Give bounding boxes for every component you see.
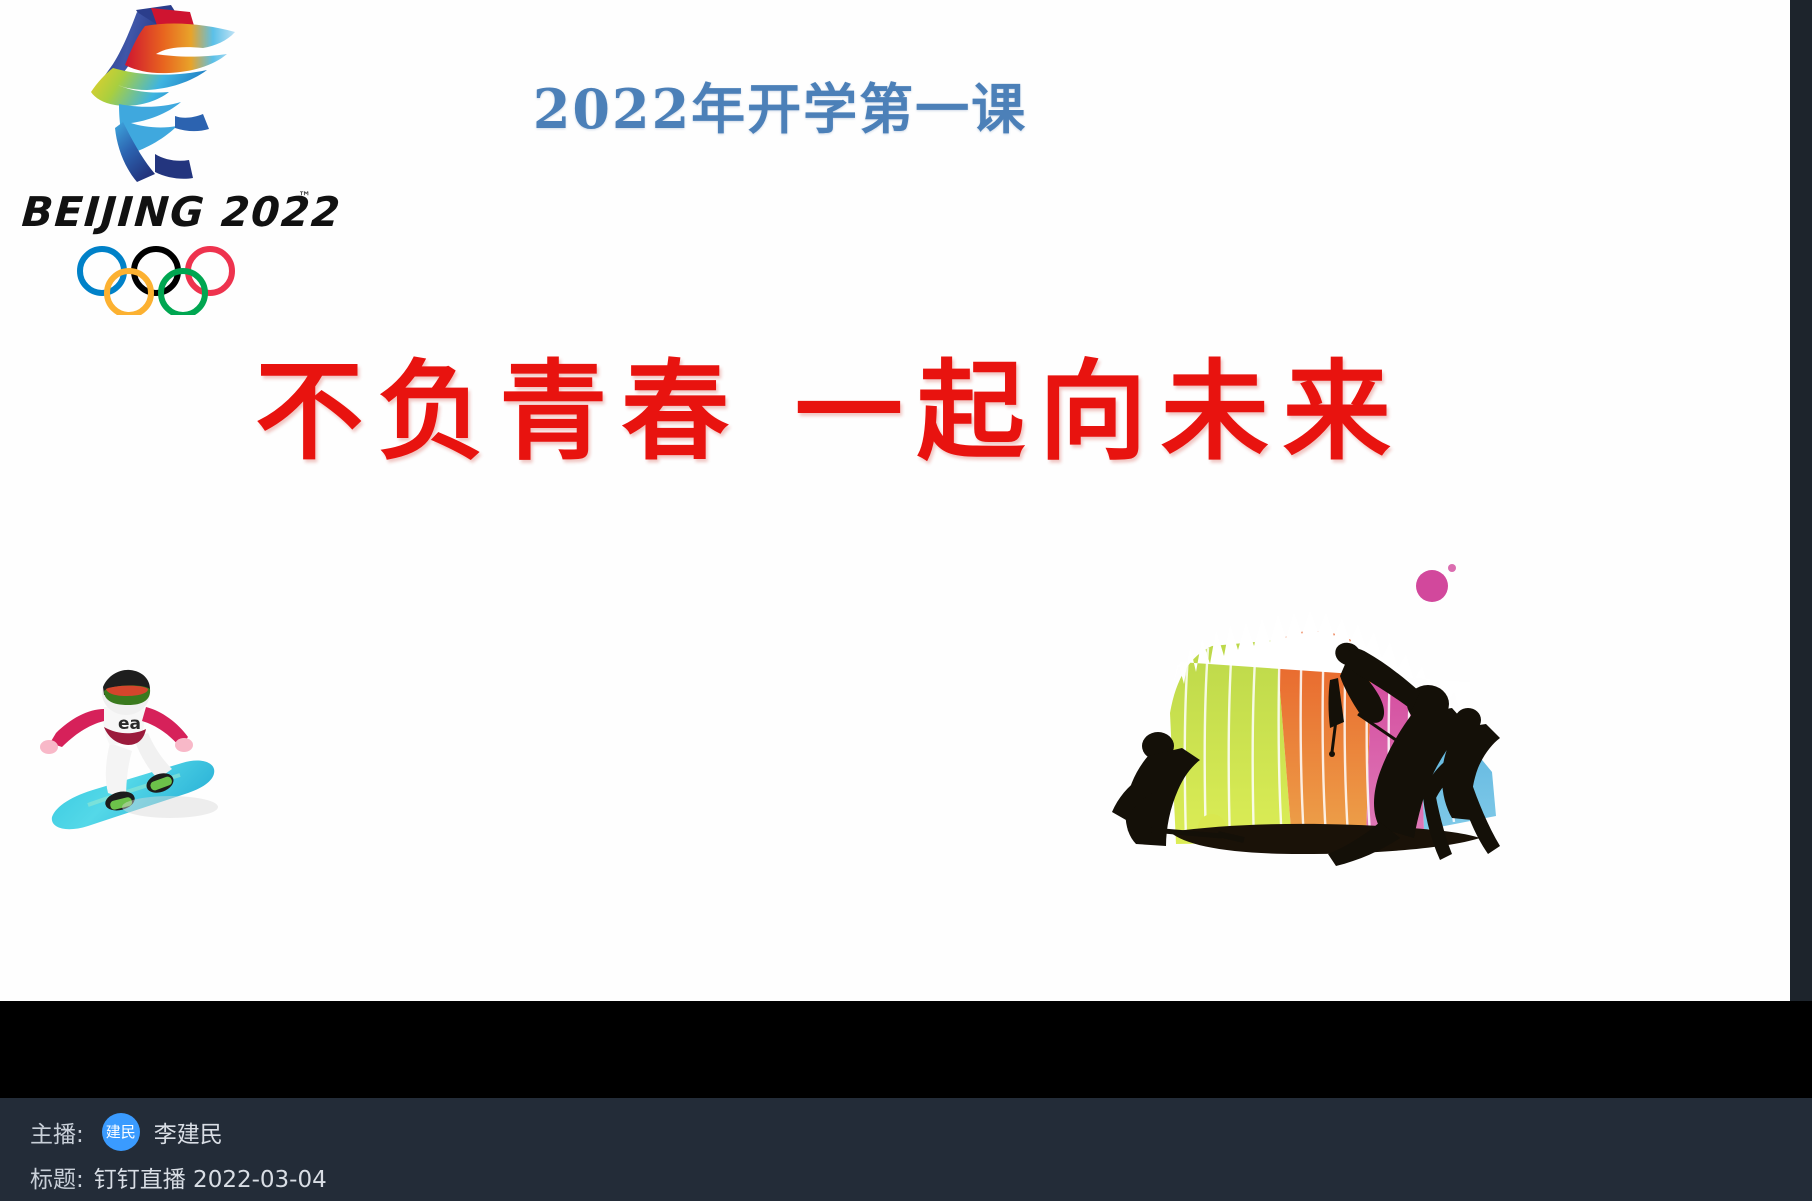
host-row: 主播: 建民 李建民	[30, 1113, 223, 1151]
beijing-2022-wordmark: BEIJING 2022	[20, 188, 323, 234]
trademark-symbol: ™	[298, 190, 311, 205]
stream-info-footer: 主播: 建民 李建民 标题: 钉钉直播 2022-03-04	[0, 1098, 1812, 1201]
live-stream-player: BEIJING 2022 ™ 2022年开学第一课 不负青春 一起向未来	[0, 0, 1812, 1201]
winter-sports-brush-artwork	[1000, 528, 1580, 868]
snowboarder-photo: ea	[30, 665, 250, 845]
svg-text:ea: ea	[118, 714, 141, 734]
stream-title-value: 钉钉直播 2022-03-04	[94, 1160, 327, 1194]
presentation-slide: BEIJING 2022 ™ 2022年开学第一课 不负青春 一起向未来	[0, 0, 1790, 1001]
beijing-2022-logo-lockup: BEIJING 2022 ™	[8, 2, 328, 332]
letterbox-strip	[0, 1001, 1812, 1098]
host-label: 主播:	[30, 1115, 84, 1149]
host-name: 李建民	[154, 1115, 223, 1149]
slide-headline: 2022年开学第一课	[0, 65, 1560, 144]
host-avatar[interactable]: 建民	[102, 1113, 140, 1151]
slide-slogan: 不负青春 一起向未来	[0, 325, 1660, 481]
stream-title-row: 标题: 钉钉直播 2022-03-04	[30, 1160, 327, 1194]
olympic-rings-icon	[68, 245, 248, 315]
right-gutter	[1790, 0, 1812, 1003]
stream-title-label: 标题:	[30, 1160, 84, 1194]
